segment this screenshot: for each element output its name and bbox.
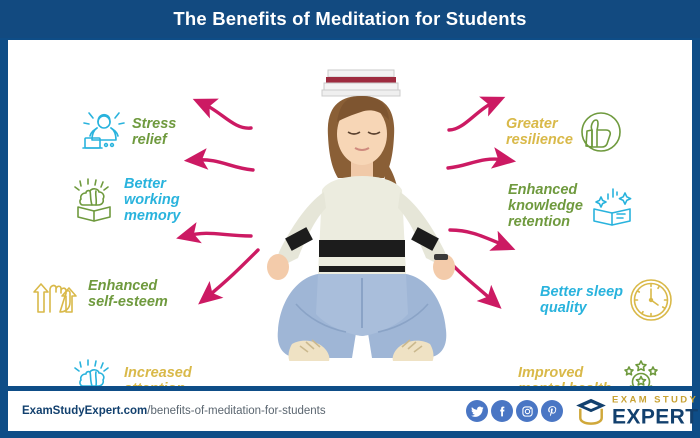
benefit-increased-attention: Increased attention [72,358,192,386]
poster-footer: ExamStudyExpert.com/benefits-of-meditati… [8,391,692,431]
logo-top-text: EXAM STUDY [612,395,698,405]
benefit-label-enhanced-self-esteem: Enhanced self-esteem [88,278,168,310]
benefit-better-working-memory: Better working memory [72,176,180,225]
benefit-improved-mental-health: Improved mental health [518,358,665,386]
benefit-label-enhanced-knowledge-retention: Enhanced knowledge retention [508,182,583,231]
benefit-enhanced-knowledge-retention: Enhanced knowledge retention [508,182,635,231]
graduation-cap-icon [574,397,608,425]
benefit-label-increased-attention: Increased attention [124,365,192,386]
arrow-to-enhanced-self-esteem [186,233,251,236]
benefit-label-greater-resilience: Greater resilience [506,116,573,148]
facebook-icon[interactable] [491,400,513,422]
infographic-canvas: Stress relief Better working memory Enha… [8,40,692,386]
thumbs-up-circle-icon [579,110,623,154]
hands-holding-star-medal-icon [617,358,665,386]
brain-on-book-icon [72,358,118,386]
raised-fist-arrows-icon [32,272,82,316]
benefit-greater-resilience: Greater resilience [506,110,623,154]
clock-icon [629,278,673,322]
benefit-enhanced-self-esteem: Enhanced self-esteem [32,272,168,316]
footer-url-path: /benefits-of-meditation-for-students [147,405,325,417]
benefit-label-better-working-memory: Better working memory [124,176,180,225]
benefit-label-stress-relief: Stress relief [132,116,176,148]
benefit-better-sleep-quality: Better sleep quality [540,278,673,322]
stressed-student-laptop-icon [80,110,126,154]
arrow-to-increased-attention [206,250,258,298]
twitter-icon[interactable] [466,400,488,422]
infographic-poster: The Benefits of Meditation for Students [0,0,700,438]
brain-on-book-icon [72,177,118,223]
benefit-stress-relief: Stress relief [80,110,176,154]
sparkling-open-book-icon [589,183,635,229]
brand-logo[interactable]: EXAM STUDY EXPERT [574,395,698,427]
arrow-to-stress-relief [202,103,251,128]
social-links [466,400,563,422]
pinterest-icon[interactable] [541,400,563,422]
meditating-student-photo [256,62,466,386]
poster-header: The Benefits of Meditation for Students [0,0,700,38]
logo-bottom-text: EXPERT [612,406,698,427]
benefit-label-improved-mental-health: Improved mental health [518,365,611,386]
instagram-icon[interactable] [516,400,538,422]
footer-url[interactable]: ExamStudyExpert.com/benefits-of-meditati… [22,405,326,417]
page-title: The Benefits of Meditation for Students [173,8,526,30]
arrow-to-better-working-memory [194,160,253,170]
benefit-label-better-sleep-quality: Better sleep quality [540,284,623,316]
books-stack [322,70,400,96]
footer-url-domain: ExamStudyExpert.com [22,405,147,417]
